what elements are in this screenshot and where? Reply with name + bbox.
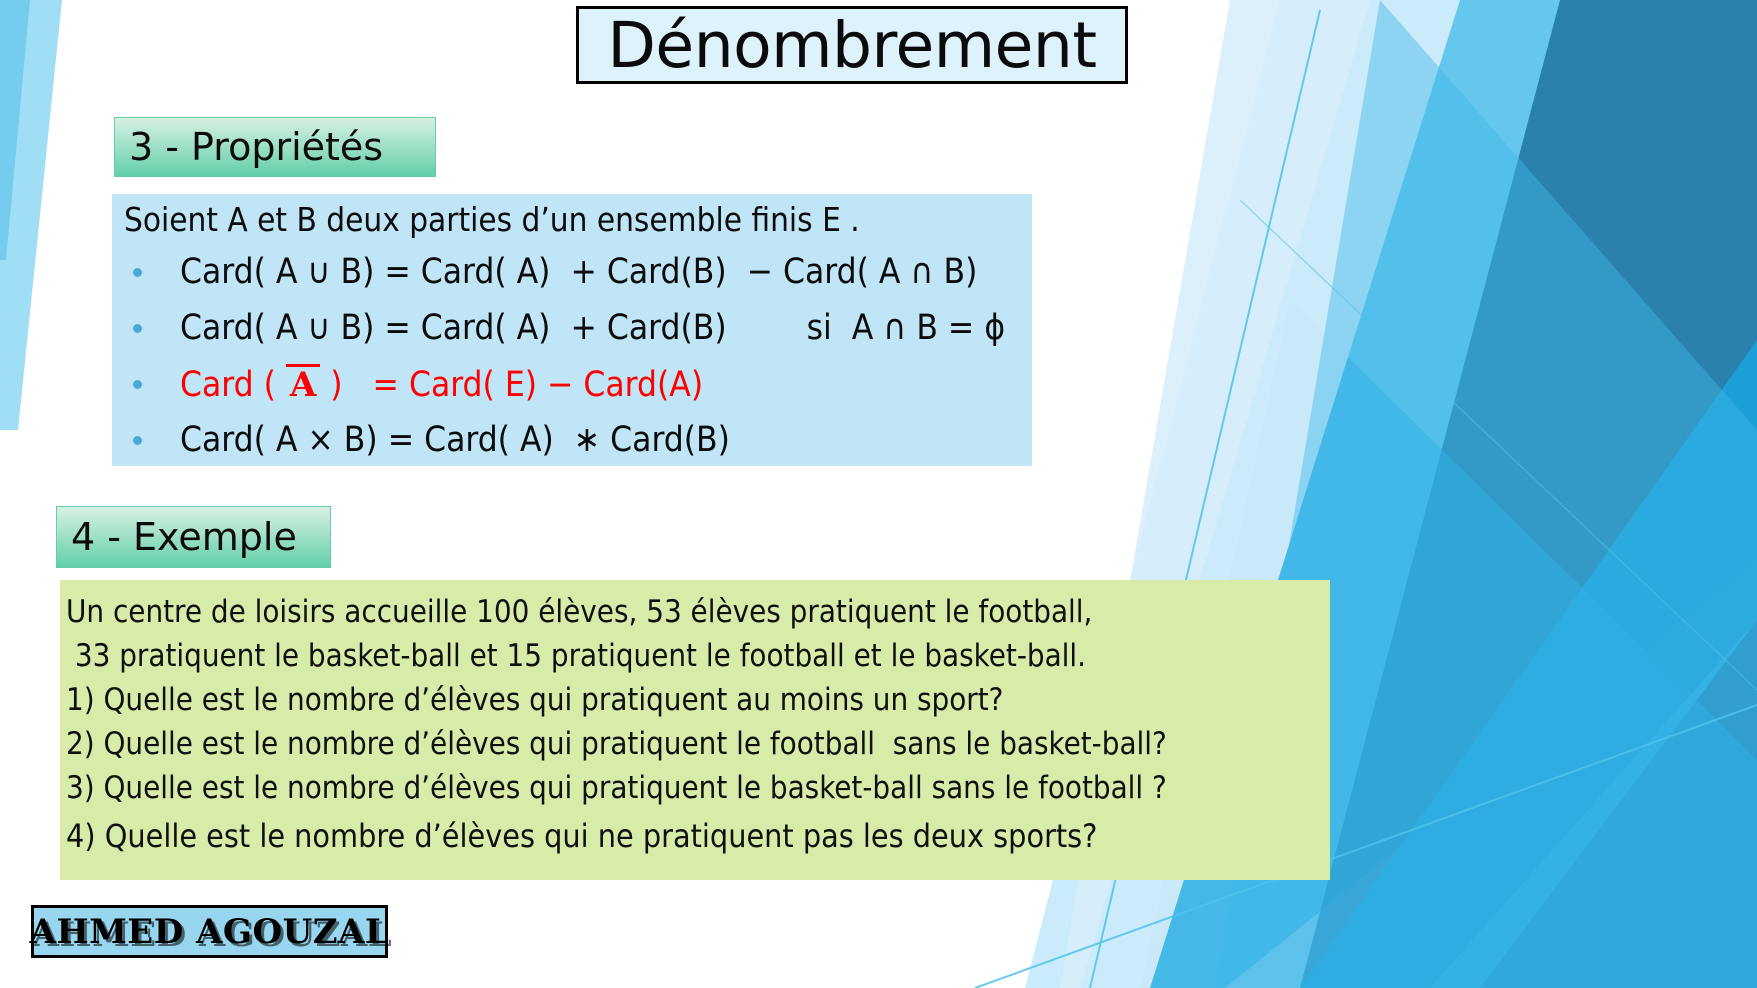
example-panel: Un centre de loisirs accueille 100 élève… bbox=[60, 580, 1330, 880]
example-line: 33 pratiquent le basket-ball et 15 prati… bbox=[60, 634, 1330, 678]
bullet-icon bbox=[133, 268, 142, 277]
slide: Dénombrement 3 - Propriétés Soient A et … bbox=[0, 0, 1757, 988]
example-line: Un centre de loisirs accueille 100 élève… bbox=[60, 590, 1330, 634]
property-formula-complement: Card ( A ) = Card( E) − Card(A) bbox=[180, 364, 703, 405]
author-nameplate: AHMED AGOUZAL bbox=[31, 905, 388, 958]
bullet-icon bbox=[133, 380, 142, 389]
complement-set-A-overline: A bbox=[286, 364, 320, 404]
section-heading-exemple: 4 - Exemple bbox=[56, 506, 331, 568]
property-formula: Card( A ∪ B) = Card( A) + Card(B) si A ∩… bbox=[180, 308, 1005, 348]
property-formula: Card( A ∪ B) = Card( A) + Card(B) − Card… bbox=[180, 252, 977, 292]
property-item: Card( A ∪ B) = Card( A) + Card(B) − Card… bbox=[124, 244, 1024, 300]
example-line: 1) Quelle est le nombre d’élèves qui pra… bbox=[60, 678, 1330, 722]
example-line: 3) Quelle est le nombre d’élèves qui pra… bbox=[60, 766, 1330, 810]
example-line: 4) Quelle est le nombre d’élèves qui ne … bbox=[60, 810, 1330, 862]
slide-title-box: Dénombrement bbox=[576, 6, 1128, 84]
property-item: Card( A × B) = Card( A) ∗ Card(B) bbox=[124, 412, 1024, 468]
property-item-complement: Card ( A ) = Card( E) − Card(A) bbox=[124, 356, 1024, 412]
example-line: 2) Quelle est le nombre d’élèves qui pra… bbox=[60, 722, 1330, 766]
properties-panel: Soient A et B deux parties d’un ensemble… bbox=[112, 194, 1032, 466]
property-item: Card( A ∪ B) = Card( A) + Card(B) si A ∩… bbox=[124, 300, 1024, 356]
section-heading-proprietes: 3 - Propriétés bbox=[114, 117, 436, 177]
bullet-icon bbox=[133, 436, 142, 445]
properties-intro-text: Soient A et B deux parties d’un ensemble… bbox=[124, 200, 860, 239]
author-name: AHMED AGOUZAL bbox=[30, 912, 390, 952]
bullet-icon bbox=[133, 324, 142, 333]
formula-suffix: ) = Card( E) − Card(A) bbox=[320, 365, 703, 405]
page-title: Dénombrement bbox=[607, 14, 1096, 77]
section-heading-exemple-label: 4 - Exemple bbox=[71, 515, 297, 559]
formula-prefix: Card ( bbox=[180, 365, 286, 405]
property-formula: Card( A × B) = Card( A) ∗ Card(B) bbox=[180, 420, 730, 460]
section-heading-proprietes-label: 3 - Propriétés bbox=[129, 125, 383, 169]
